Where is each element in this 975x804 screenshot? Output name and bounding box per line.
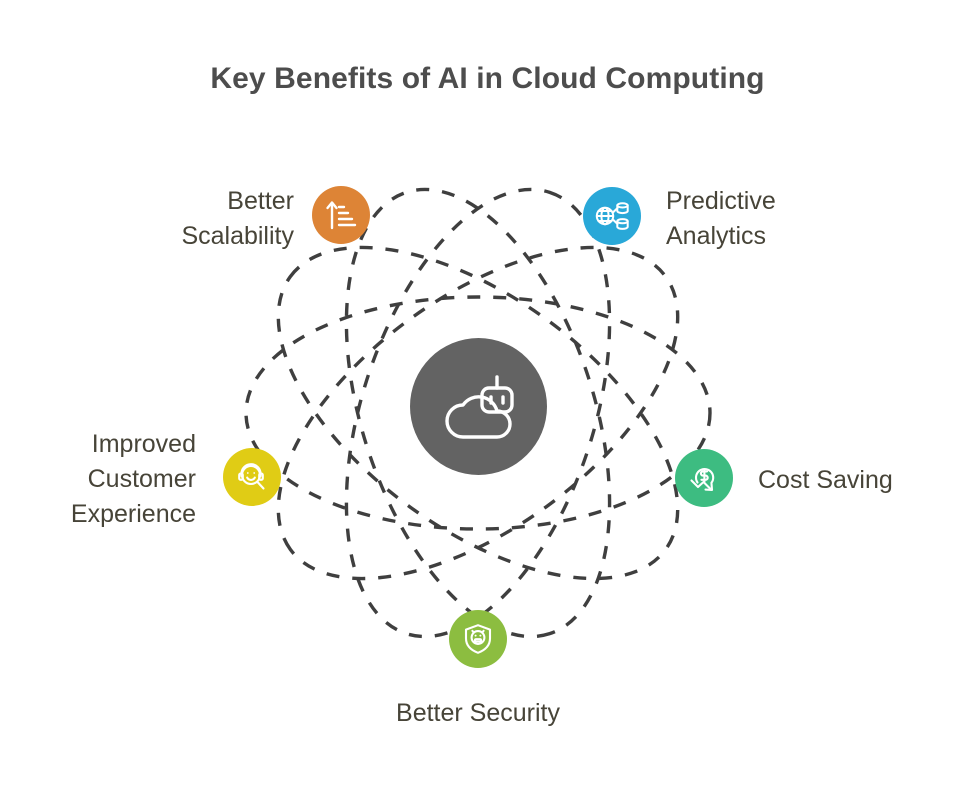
benefit-label-scalability: Better Scalability — [68, 184, 294, 254]
benefit-node-cost[interactable] — [675, 449, 733, 507]
benefit-label-customer: Improved Customer Experience — [8, 427, 196, 532]
benefit-node-security[interactable] — [449, 610, 507, 668]
cloud-robot-icon — [437, 371, 521, 443]
benefit-node-analytics[interactable] — [583, 187, 641, 245]
headset-smiley-magnifier-icon — [235, 460, 269, 494]
benefit-node-customer[interactable] — [223, 448, 281, 506]
globe-database-icon — [595, 199, 629, 233]
benefit-node-scalability[interactable] — [312, 186, 370, 244]
benefit-label-cost: Cost Saving — [758, 463, 968, 498]
benefit-label-analytics: Predictive Analytics — [666, 184, 926, 254]
benefit-label-security: Better Security — [320, 696, 636, 731]
shield-robot-icon — [461, 622, 495, 656]
dollar-down-arrow-icon — [687, 461, 721, 495]
cloud-ai-hub[interactable] — [410, 338, 547, 475]
upward-arrow-bars-icon — [324, 198, 358, 232]
benefits-atom-diagram: Better Scalability P — [0, 0, 975, 804]
